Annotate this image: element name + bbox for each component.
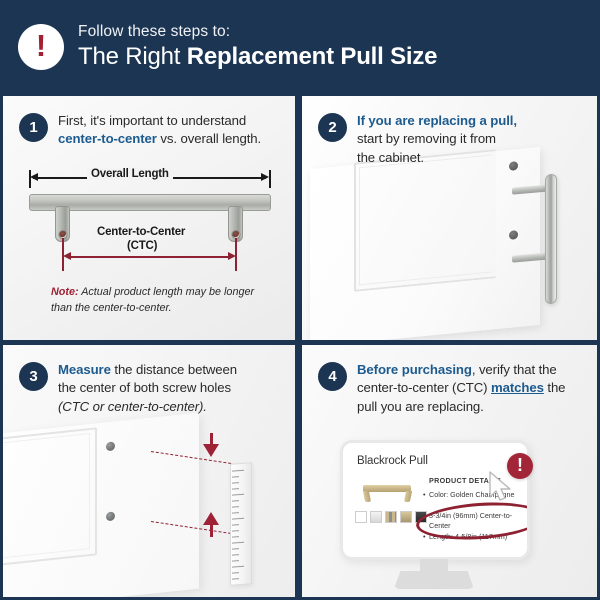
ruler [230, 462, 252, 586]
overall-arrow-left [30, 173, 38, 181]
note-label: Note: [51, 286, 79, 298]
pull-dimension-diagram: Overall Length Center-to-Center (CTC) [25, 168, 275, 273]
product-detail-ctc: 3-3/4in (96mm) Center-to-Center [429, 511, 521, 530]
measure-arrow-top [203, 444, 219, 457]
step-panel-2: 2 If you are replacing a pull, start by … [302, 96, 597, 340]
step-4-content: Blackrock Pull [302, 345, 597, 597]
header-banner: ! Follow these steps to: The Right Repla… [0, 0, 600, 93]
ctc-label: Center-to-Center [94, 226, 188, 238]
step-1-note: Note: Actual product length may be longe… [51, 284, 266, 316]
note-text: Actual product length may be longer than… [51, 286, 254, 314]
step-badge-3: 3 [19, 362, 48, 391]
step-3-heading: 3 Measure the distance between the cente… [19, 361, 285, 416]
infographic-root: ! Follow these steps to: The Right Repla… [0, 0, 600, 600]
step-1-text-b: center-to-center [58, 131, 157, 146]
step-1-text-a: First, it's important to understand [58, 113, 246, 128]
step-3-text: Measure the distance between the center … [58, 361, 258, 416]
step-2-text: If you are replacing a pull, start by re… [357, 112, 517, 167]
product-thumbnail-4[interactable] [400, 511, 412, 523]
step-badge-4: 4 [318, 362, 347, 391]
step-4-heading: 4 Before purchasing, verify that the cen… [318, 361, 587, 416]
screw-hole-top-3 [106, 441, 115, 451]
step-3-content: 3 Measure the distance between the cente… [3, 345, 295, 597]
product-pull-leg-left [363, 491, 371, 502]
ctc-abbrev-label: (CTC) [124, 240, 160, 252]
step-badge-2: 2 [318, 113, 347, 142]
overall-length-label: Overall Length [87, 168, 173, 180]
product-thumbnail-2[interactable] [370, 511, 382, 523]
product-detail-length: Length: 4-5/8in (117mm) [429, 532, 521, 542]
pull-post-left [55, 206, 70, 242]
page-title-bold: Replacement Pull Size [187, 43, 438, 70]
overall-arrow-right [261, 173, 269, 181]
measure-arrow-bottom-stem [210, 525, 213, 537]
header-text-block: Follow these steps to: The Right Replace… [78, 23, 437, 71]
step-2-text-a: If you are replacing a pull, [357, 113, 517, 128]
product-pull-bar [363, 485, 411, 492]
product-thumbnail-3[interactable] [385, 511, 397, 523]
step-3-text-a: Measure [58, 362, 111, 377]
header-eyebrow: Follow these steps to: [78, 23, 437, 41]
step-2-content: 2 If you are replacing a pull, start by … [302, 96, 597, 340]
ctc-arrow-left [63, 252, 71, 260]
cabinet-door-inset-inner-2 [359, 155, 492, 286]
overall-tick-right [269, 170, 271, 188]
step-4-text-a: Before purchasing [357, 362, 472, 377]
step-3-text-c: (CTC or center-to-center). [58, 399, 207, 414]
product-image [357, 479, 419, 505]
step-panel-4: Blackrock Pull [302, 345, 597, 597]
step-1-text: First, it's important to understand cent… [58, 112, 285, 149]
cabinet-door-inset-inner-3 [3, 433, 90, 560]
pull-post-right [228, 206, 243, 242]
step-1-content: 1 First, it's important to understand ce… [3, 96, 295, 340]
page-title-light: The Right [78, 43, 187, 70]
measure-arrow-bottom [203, 512, 219, 525]
alert-exclamation-glyph: ! [517, 456, 523, 474]
step-panel-3: 3 Measure the distance between the cente… [3, 345, 295, 597]
step-2-text-b: start by removing it from the cabinet. [357, 131, 496, 164]
step-1-text-c: vs. overall length. [157, 131, 261, 146]
step-badge-1: 1 [19, 113, 48, 142]
ctc-arrow-right [228, 252, 236, 260]
steps-grid: 1 First, it's important to understand ce… [0, 93, 600, 600]
monitor-base [394, 571, 474, 589]
step-4-text: Before purchasing, verify that the cente… [357, 361, 572, 416]
step-4-text-matches: matches [491, 380, 544, 395]
product-thumbnail-1[interactable] [355, 511, 367, 523]
bar-pull-2 [545, 173, 557, 304]
step-2-heading: 2 If you are replacing a pull, start by … [318, 112, 587, 167]
step-1-heading: 1 First, it's important to understand ce… [19, 112, 285, 149]
step-panel-1: 1 First, it's important to understand ce… [3, 96, 295, 340]
exclamation-icon: ! [18, 24, 64, 70]
product-thumbnail-row[interactable] [355, 511, 427, 523]
page-title: The Right Replacement Pull Size [78, 43, 437, 71]
exclamation-glyph: ! [36, 30, 46, 61]
monitor-neck [420, 559, 448, 573]
cabinet-door-2 [310, 147, 540, 340]
ctc-line [70, 256, 228, 258]
product-card-title: Blackrock Pull [357, 455, 428, 467]
product-pull-leg-right [404, 491, 412, 502]
cabinet-door-3 [3, 413, 199, 597]
screw-hole-bottom-2 [509, 230, 518, 240]
screw-hole-bottom-3 [106, 511, 115, 521]
